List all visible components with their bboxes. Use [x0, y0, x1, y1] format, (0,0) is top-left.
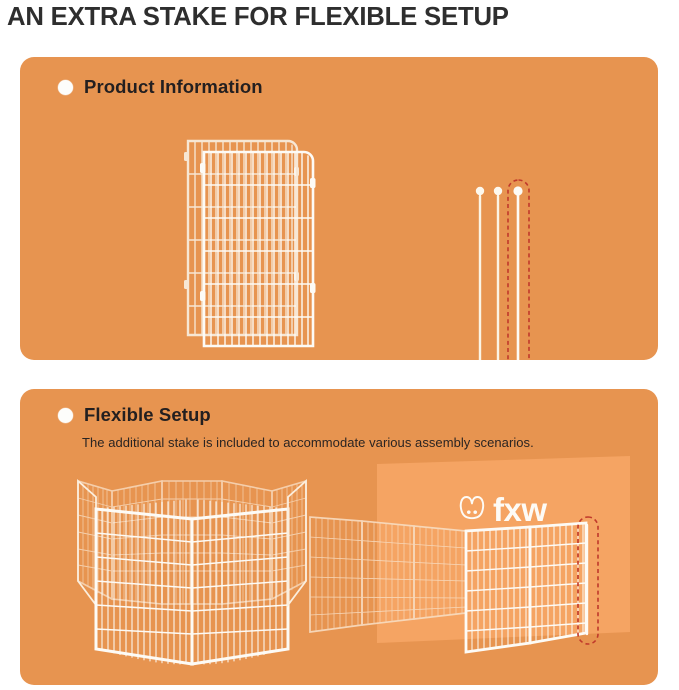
stake-2-head — [494, 187, 502, 195]
product-feature-page: AN EXTRA STAKE FOR FLEXIBLE SETUP Produc… — [0, 0, 679, 690]
card-header-product-information: Product Information — [58, 77, 263, 97]
card-title-product-information: Product Information — [84, 77, 263, 97]
card-product-information: Product Information — [20, 57, 658, 360]
playpen-front-right-panel — [192, 500, 288, 664]
wall-surface — [377, 456, 630, 643]
card-flexible-setup: Flexible Setup The additional stake is i… — [20, 389, 658, 685]
playpen-front-left-panel — [96, 500, 192, 664]
page-title: AN EXTRA STAKE FOR FLEXIBLE SETUP — [7, 1, 679, 33]
card-title-flexible-setup: Flexible Setup — [84, 405, 211, 425]
bullet-circle-icon — [58, 80, 73, 95]
stake-3-head — [513, 186, 522, 195]
wire-panels-illustration — [170, 112, 400, 352]
ground-stakes-illustration — [450, 112, 560, 357]
wall-fence-illustration: fxw — [340, 447, 655, 672]
octagon-playpen-illustration — [50, 459, 350, 664]
stake-1-head — [476, 187, 484, 195]
card-header-flexible-setup: Flexible Setup — [58, 405, 211, 425]
bullet-circle-icon — [58, 408, 73, 423]
fxw-wordmark: fxw — [493, 491, 547, 528]
